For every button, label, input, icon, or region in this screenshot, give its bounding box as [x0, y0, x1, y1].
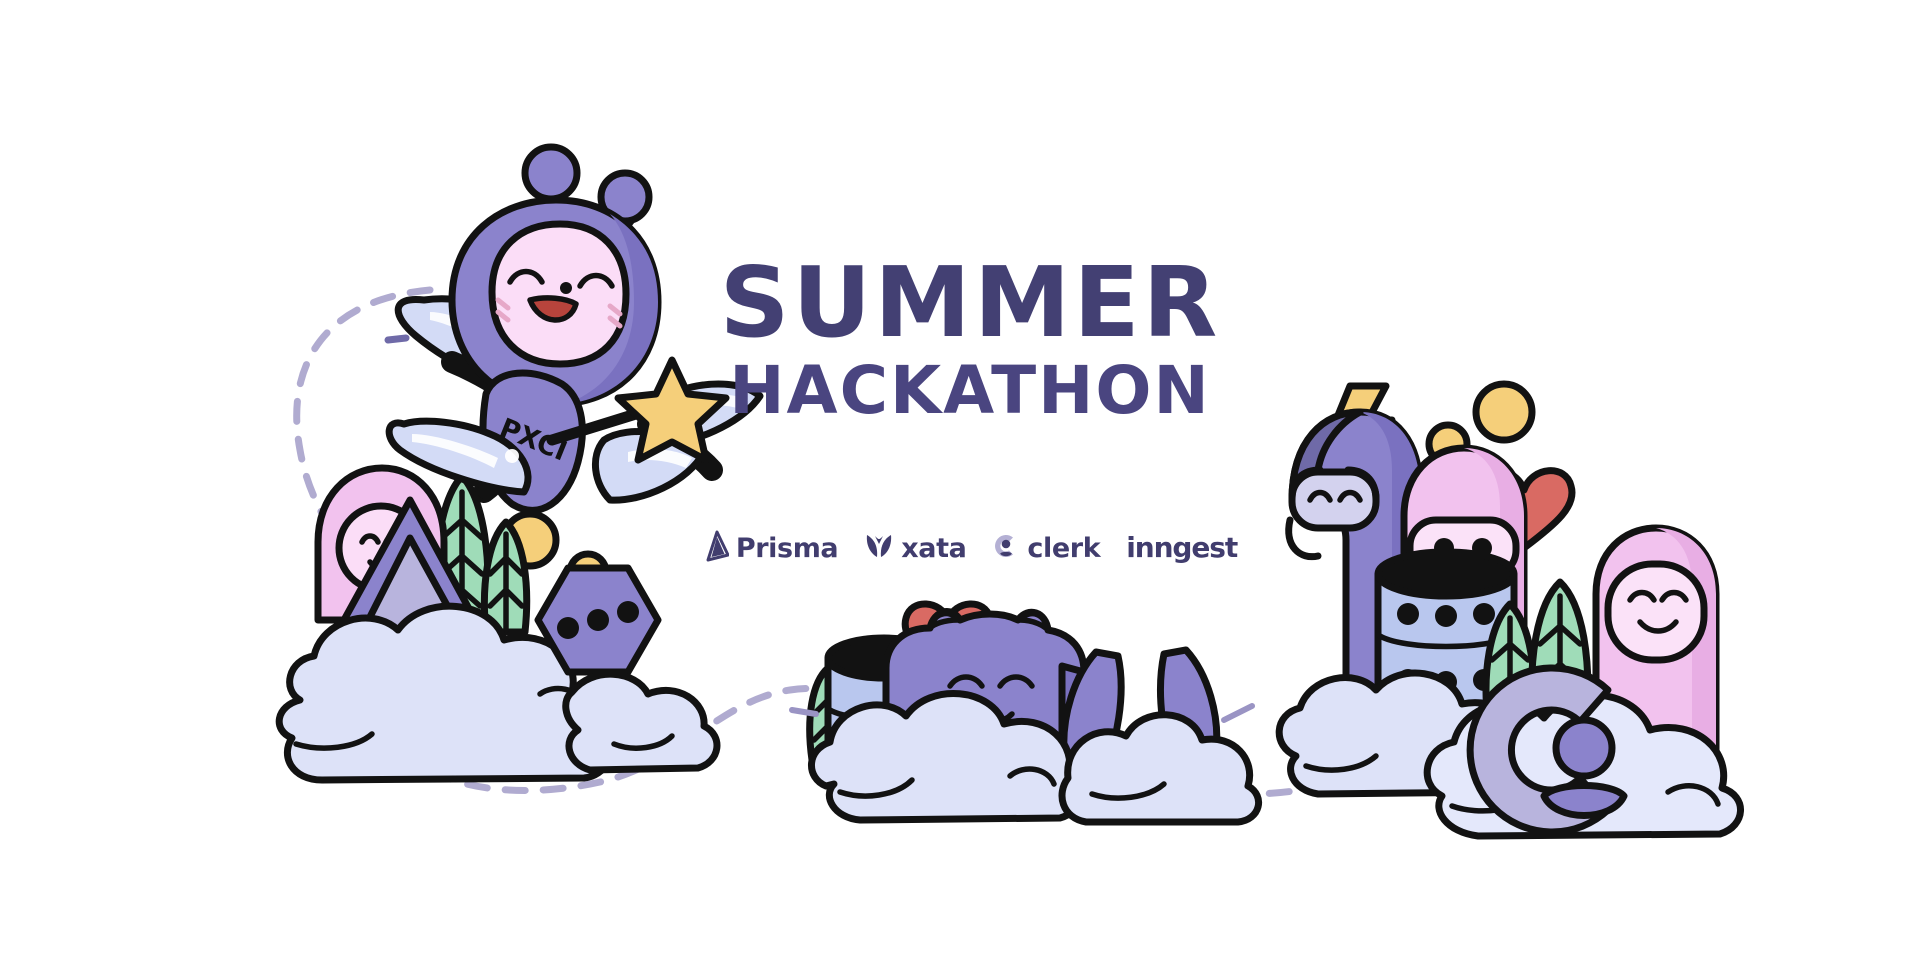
- sponsor-inngest-label: inngest: [1126, 534, 1237, 562]
- visor-face: [1292, 470, 1376, 528]
- sponsor-inngest[interactable]: inngest: [1126, 534, 1237, 562]
- coin-large: [1476, 384, 1532, 440]
- cloud-left-right-puff: [566, 674, 717, 770]
- pxci-fairy-mascot: PXCI: [388, 147, 760, 510]
- illustration-canvas: .ink { stroke:#121212; stroke-width:7; s…: [0, 0, 1920, 960]
- clerk-ring-person-icon: [992, 532, 1020, 564]
- xata-butterfly-icon: [864, 531, 894, 565]
- sponsor-clerk-label: clerk: [1027, 535, 1100, 562]
- right-cloud-scene: [1279, 384, 1740, 836]
- sponsor-xata[interactable]: xata: [864, 531, 966, 565]
- hexagon-three-dots: [538, 568, 658, 672]
- sponsor-xata-label: xata: [901, 535, 966, 562]
- left-cloud-scene: [279, 468, 717, 780]
- hood-head: [452, 200, 658, 404]
- hero-banner: .ink { stroke:#121212; stroke-width:7; s…: [0, 0, 1920, 960]
- sponsor-prisma[interactable]: Prisma: [703, 530, 838, 566]
- center-cloud-scene: [792, 604, 1259, 822]
- sponsor-clerk[interactable]: clerk: [992, 532, 1100, 564]
- sponsor-logo-row: Prisma xata clerk i: [660, 530, 1280, 566]
- sponsor-prisma-label: Prisma: [736, 535, 838, 562]
- prisma-triangle-icon: [703, 530, 729, 566]
